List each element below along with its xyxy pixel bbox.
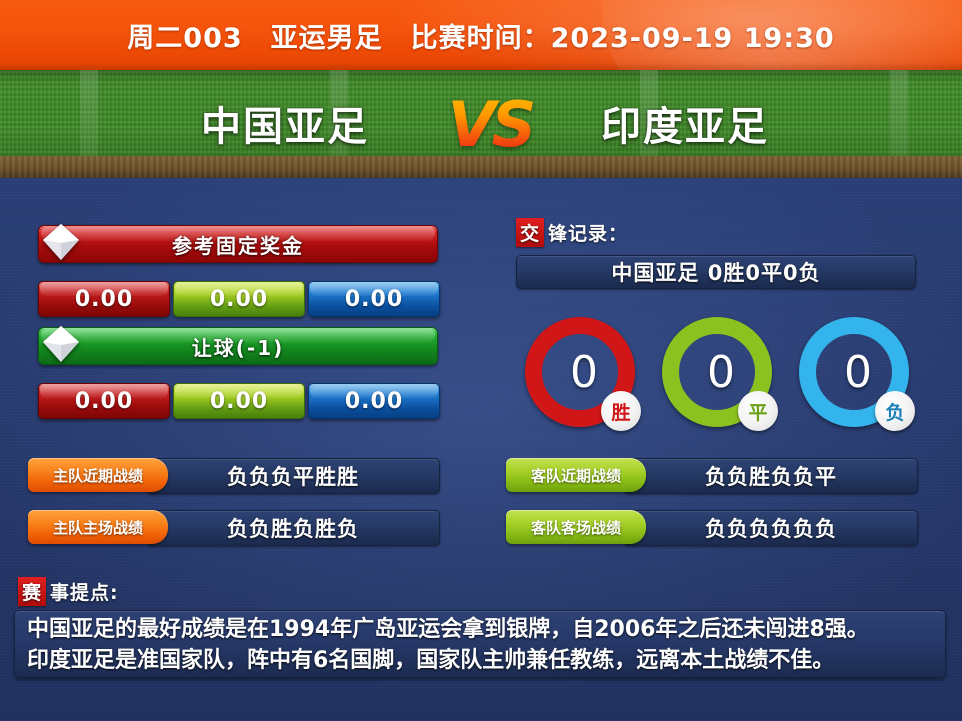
away-recent-form-row: 负负胜负负平 客队近期战绩: [506, 458, 916, 492]
tips-line-1: 中国亚足的最好成绩是在1994年广岛亚运会拿到银牌，自2006年之后还未闯进8强…: [27, 614, 933, 645]
head-to-head-summary: 中国亚足 0胜0平0负: [516, 255, 916, 289]
header-banner: 周二003 亚运男足 比赛时间：2023-09-19 19:30: [0, 0, 962, 70]
match-header-title: 周二003 亚运男足 比赛时间：2023-09-19 19:30: [0, 0, 962, 70]
ring-badge-lose: 负: [875, 391, 915, 431]
home-home-form-value: 负负胜负胜负: [146, 510, 440, 546]
handicap-header: 让球(-1): [38, 327, 438, 365]
home-recent-form-row: 负负负平胜胜 主队近期战绩: [28, 458, 438, 492]
match-preview-card: 周二003 亚运男足 比赛时间：2023-09-19 19:30 中国亚足 VS…: [0, 0, 962, 721]
away-away-form-tag: 客队客场战绩: [506, 510, 646, 544]
head-to-head-tag: 交: [516, 218, 544, 247]
fixed-odd-lose[interactable]: 0.00: [308, 281, 440, 317]
head-to-head-label-text: 锋记录：: [548, 219, 628, 246]
fixed-bonus-title: 参考固定奖金: [172, 230, 304, 259]
tips-label: 赛 事提点:: [18, 578, 119, 604]
handicap-title: 让球(-1): [192, 332, 285, 361]
home-home-form-tag: 主队主场战绩: [28, 510, 168, 544]
home-recent-form-value: 负负负平胜胜: [146, 458, 440, 494]
h2h-ring-draw: 0 平: [662, 317, 772, 427]
h2h-ring-win: 0 胜: [525, 317, 635, 427]
handicap-odd-lose[interactable]: 0.00: [308, 383, 440, 419]
diamond-icon: [37, 218, 85, 266]
fixed-bonus-header: 参考固定奖金: [38, 225, 438, 263]
diamond-icon: [37, 320, 85, 368]
away-recent-form-value: 负负胜负负平: [624, 458, 918, 494]
ring-badge-win: 胜: [601, 391, 641, 431]
home-home-form-row: 负负胜负胜负 主队主场战绩: [28, 510, 438, 544]
fixed-odd-win[interactable]: 0.00: [38, 281, 170, 317]
handicap-odd-draw[interactable]: 0.00: [173, 383, 305, 419]
h2h-ring-lose: 0 负: [799, 317, 909, 427]
home-recent-form-tag: 主队近期战绩: [28, 458, 168, 492]
away-away-form-row: 负负负负负负 客队客场战绩: [506, 510, 916, 544]
away-team-name: 印度亚足: [520, 92, 850, 154]
away-away-form-value: 负负负负负负: [624, 510, 918, 546]
ring-badge-draw: 平: [738, 391, 778, 431]
tips-label-text: 事提点:: [50, 578, 119, 605]
head-to-head-label: 交 锋记录：: [516, 219, 628, 245]
handicap-odd-win[interactable]: 0.00: [38, 383, 170, 419]
fixed-odd-draw[interactable]: 0.00: [173, 281, 305, 317]
away-recent-form-tag: 客队近期战绩: [506, 458, 646, 492]
tips-line-2: 印度亚足是准国家队，阵中有6名国脚，国家队主帅兼任教练，远离本土战绩不佳。: [27, 645, 933, 676]
home-team-name: 中国亚足: [120, 92, 450, 154]
tips-box: 中国亚足的最好成绩是在1994年广岛亚运会拿到银牌，自2006年之后还未闯进8强…: [14, 610, 946, 678]
tips-tag: 赛: [18, 577, 46, 606]
